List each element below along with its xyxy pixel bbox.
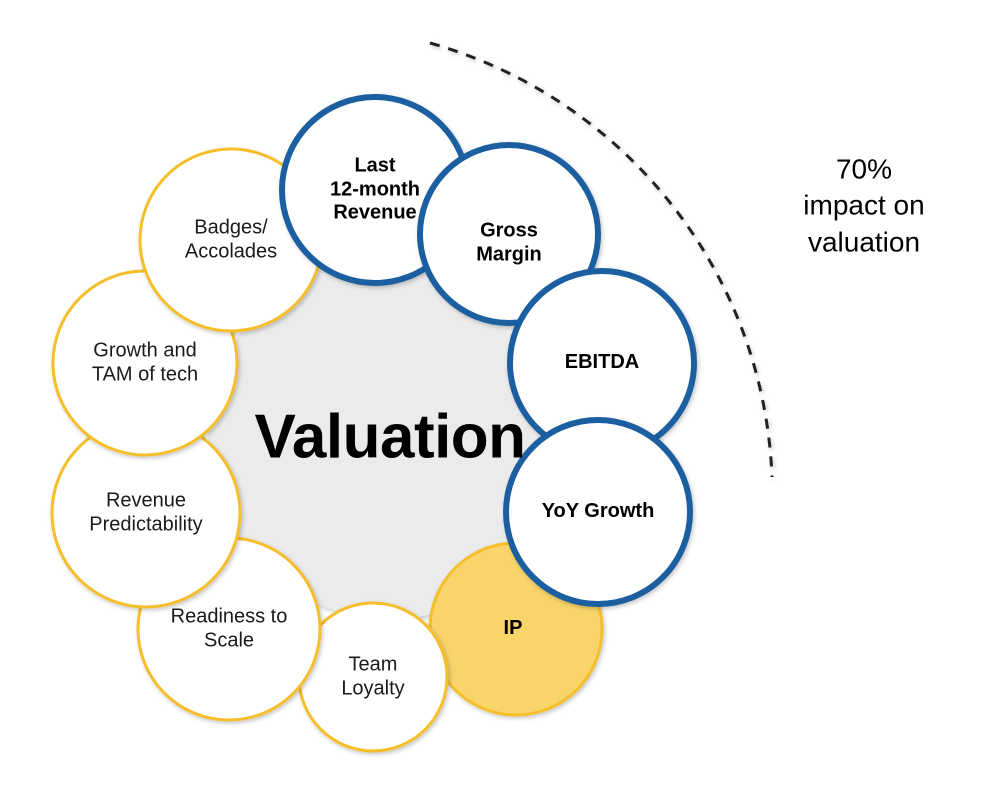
center-label: Valuation — [254, 402, 525, 473]
node-shape-yoy-growth[interactable] — [506, 420, 690, 604]
diagram-svg — [0, 0, 1000, 799]
diagram-canvas: Valuation Last 12-month Revenue Gross Ma… — [0, 0, 1000, 799]
impact-annotation: 70% impact on valuation — [796, 151, 932, 260]
